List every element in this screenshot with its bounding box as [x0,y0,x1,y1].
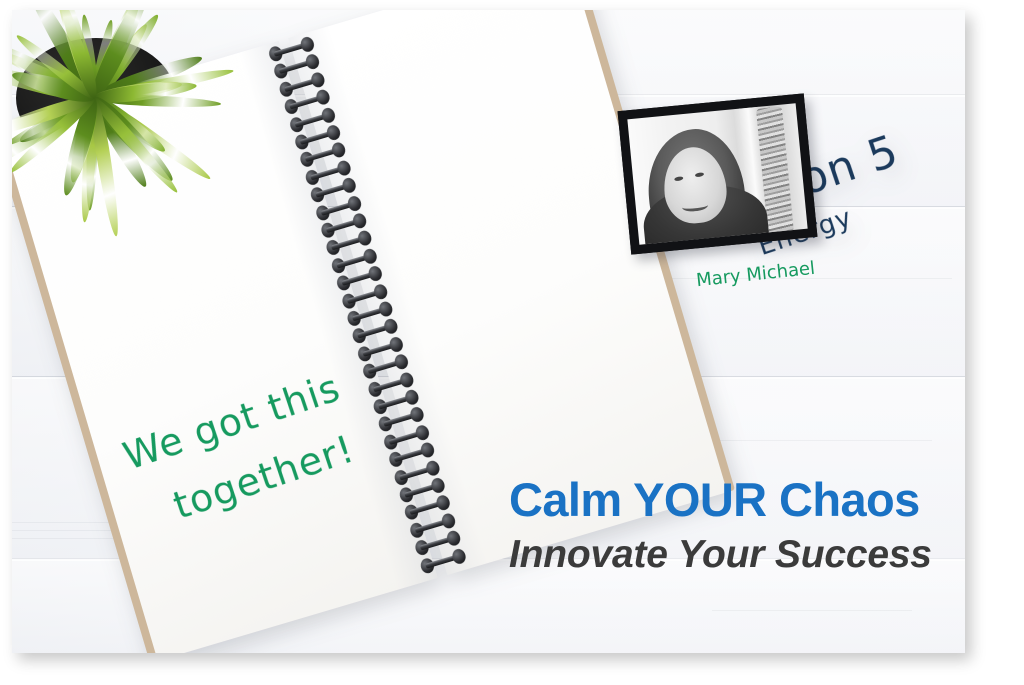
promo-card: We got this together! Session 5 Energy M… [12,10,965,653]
page-title: Calm YOUR Chaos [509,476,959,523]
branding-block: Calm YOUR Chaos Innovate Your Success [509,476,959,574]
avatar [618,93,818,254]
portrait-photo [627,103,807,245]
page-tagline: Innovate Your Success [509,535,959,574]
